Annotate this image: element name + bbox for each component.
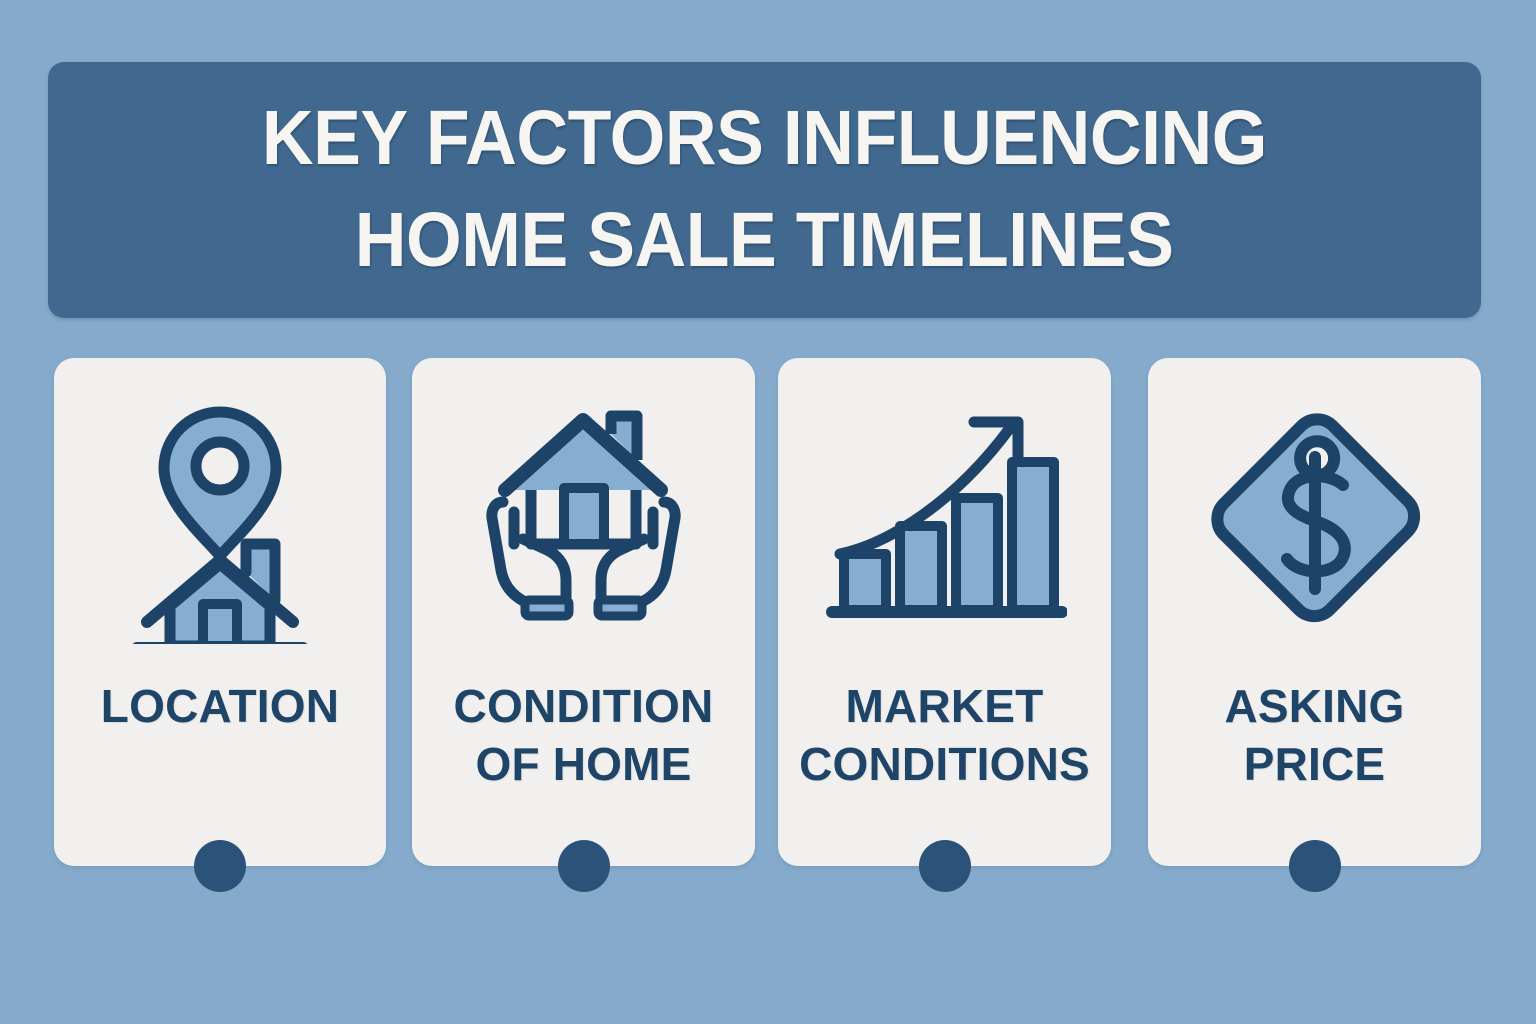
card-label-location: LOCATION: [38, 678, 402, 736]
card-label-asking-price: ASKING PRICE: [1132, 678, 1497, 793]
condition-icon-wrap: [412, 384, 755, 654]
title-line-2: HOME SALE TIMELINES: [355, 190, 1174, 292]
card-dot-asking-price: [1289, 840, 1341, 892]
factor-card-row: LOCATION: [0, 358, 1536, 868]
hands-holding-house-icon: [461, 394, 706, 644]
infographic-canvas: KEY FACTORS INFLUENCING HOME SALE TIMELI…: [0, 0, 1536, 1024]
factor-card-market-conditions[interactable]: MARKET CONDITIONS: [778, 358, 1111, 866]
label-line-1: ASKING: [1132, 678, 1497, 736]
card-label-condition-of-home: CONDITION OF HOME: [396, 678, 771, 793]
label-line-2: PRICE: [1132, 736, 1497, 794]
label-line-1: MARKET: [762, 678, 1127, 736]
card-dot-condition-of-home: [558, 840, 610, 892]
card-dot-location: [194, 840, 246, 892]
map-pin-house-icon: [115, 394, 325, 644]
factor-card-asking-price[interactable]: ASKING PRICE: [1148, 358, 1481, 866]
growth-bar-chart-icon: [822, 394, 1067, 644]
card-dot-market-conditions: [919, 840, 971, 892]
label-line-2: CONDITIONS: [762, 736, 1127, 794]
market-icon-wrap: [778, 384, 1111, 654]
label-line-2: OF HOME: [396, 736, 771, 794]
location-icon-wrap: [54, 384, 386, 654]
title-banner: KEY FACTORS INFLUENCING HOME SALE TIMELI…: [48, 62, 1481, 318]
title-line-1: KEY FACTORS INFLUENCING: [262, 88, 1267, 190]
label-line-1: LOCATION: [38, 678, 402, 736]
price-icon-wrap: [1148, 384, 1481, 654]
factor-card-condition-of-home[interactable]: CONDITION OF HOME: [412, 358, 755, 866]
factor-card-location[interactable]: LOCATION: [54, 358, 386, 866]
card-label-market-conditions: MARKET CONDITIONS: [762, 678, 1127, 793]
price-tag-dollar-icon: [1200, 399, 1430, 639]
label-line-1: CONDITION: [396, 678, 771, 736]
